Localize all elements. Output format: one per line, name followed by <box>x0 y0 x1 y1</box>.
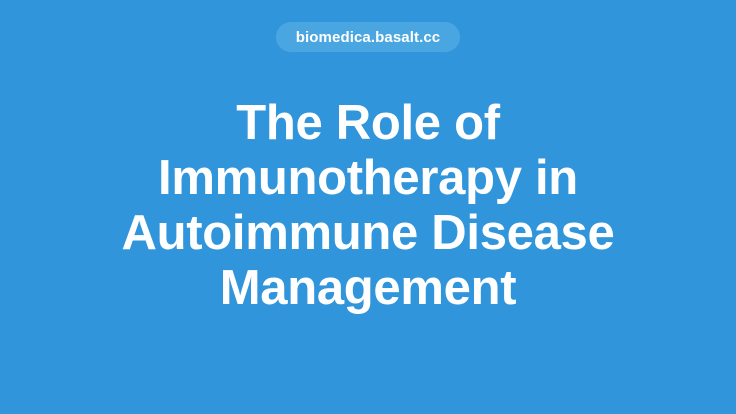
headline-line-4: Management <box>220 261 517 316</box>
domain-badge: biomedica.basalt.cc <box>276 22 460 52</box>
headline-line-3: Autoimmune Disease <box>122 206 615 261</box>
headline-line-1: The Role of <box>236 96 499 151</box>
headline-line-2: Immunotherapy in <box>158 151 578 206</box>
domain-badge-label: biomedica.basalt.cc <box>296 30 440 45</box>
page-title: The Role of Immunotherapy in Autoimmune … <box>48 96 688 316</box>
og-share-card: biomedica.basalt.cc The Role of Immunoth… <box>0 0 736 414</box>
